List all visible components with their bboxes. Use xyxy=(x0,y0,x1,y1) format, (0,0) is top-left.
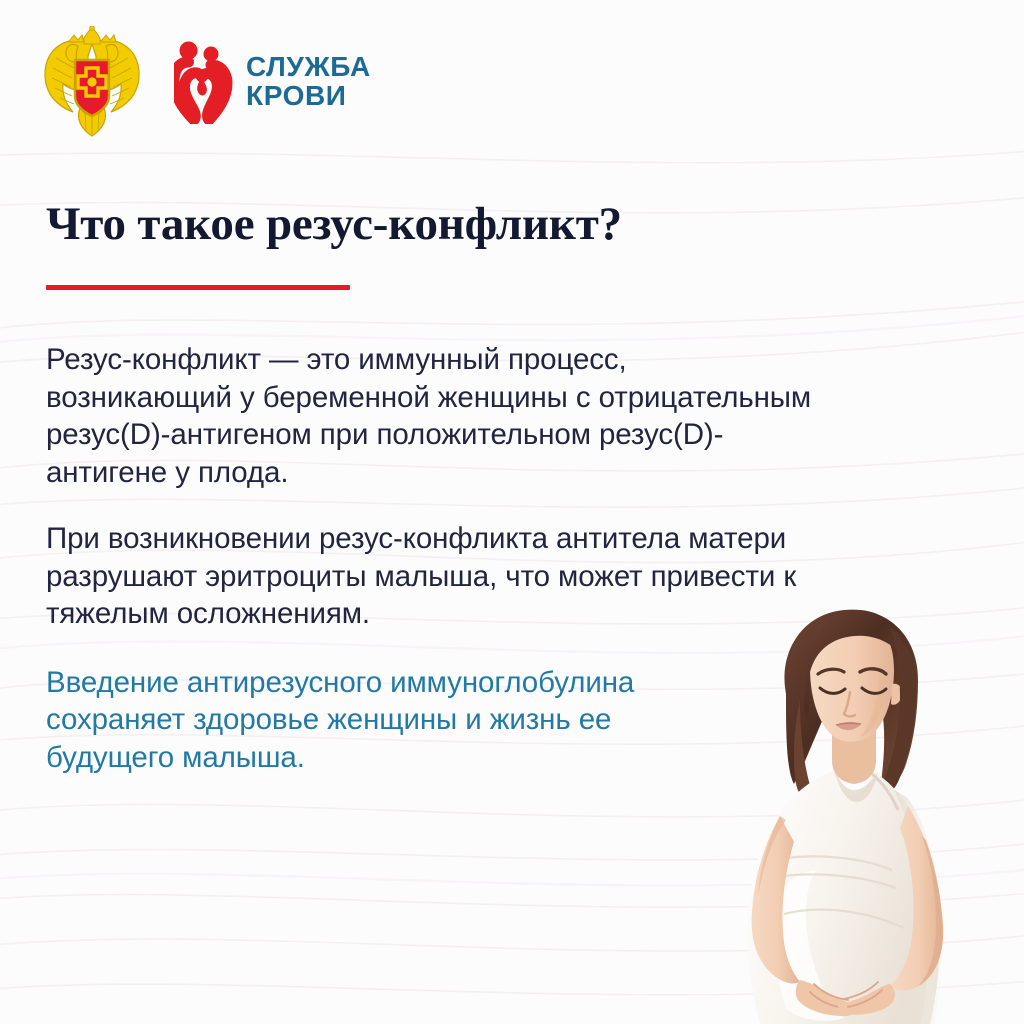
body-copy: Резус-конфликт — это иммунный процесс, в… xyxy=(46,341,966,805)
eagle-icon xyxy=(45,26,139,136)
dress xyxy=(748,770,942,1024)
page-title: Что такое резус-конфликт? xyxy=(46,198,622,251)
hands xyxy=(796,980,895,1016)
wordmark-line-1: СЛУЖБА xyxy=(246,53,371,82)
infographic-page: СЛУЖБА КРОВИ Что такое резус-конфликт? Р… xyxy=(0,0,1024,1024)
wordmark-line-2: КРОВИ xyxy=(246,82,371,111)
russian-emblem xyxy=(40,26,144,138)
paragraph-definition: Резус-конфликт — это иммунный процесс, в… xyxy=(46,341,966,491)
paragraph-consequence: При возникновении резус-конфликта антите… xyxy=(46,520,966,633)
paragraph-solution: Введение антирезусного иммуноглобулина с… xyxy=(46,664,766,777)
title-underline-rule xyxy=(46,285,350,290)
header-logos: СЛУЖБА КРОВИ xyxy=(40,26,371,138)
right-arm xyxy=(890,806,943,990)
blood-service-logo: СЛУЖБА КРОВИ xyxy=(174,40,371,124)
blood-service-heart-figures-logo-icon xyxy=(174,40,236,124)
blood-service-wordmark: СЛУЖБА КРОВИ xyxy=(246,53,371,110)
left-arm xyxy=(752,816,800,984)
